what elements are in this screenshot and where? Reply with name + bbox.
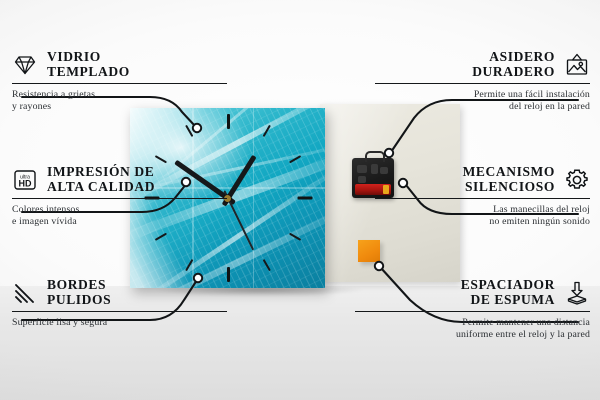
- feature-impresion-alta-calidad[interactable]: ultra HD IMPRESIÓN DEALTA CALIDAD Colore…: [12, 165, 227, 228]
- feature-subtitle: Permite mantener una distanciauniforme e…: [355, 317, 590, 340]
- feature-title: BORDESPULIDOS: [47, 278, 111, 307]
- feature-header: MECANISMOSILENCIOSO: [375, 165, 590, 194]
- svg-text:HD: HD: [19, 178, 32, 188]
- diamond-icon: [12, 52, 38, 78]
- down-arrow-on-pad-icon: [564, 280, 590, 306]
- clock-tick: [185, 259, 193, 271]
- feature-title: ESPACIADORDE ESPUMA: [461, 278, 555, 307]
- feature-title: MECANISMOSILENCIOSO: [463, 165, 555, 194]
- feature-divider: [12, 198, 227, 199]
- feature-subtitle: Colores intensose imagen vívida: [12, 204, 227, 227]
- feature-header: ESPACIADORDE ESPUMA: [355, 278, 590, 307]
- feature-divider: [12, 83, 227, 84]
- gear-icon: [564, 167, 590, 193]
- feature-title: VIDRIOTEMPLADO: [47, 50, 130, 79]
- feature-title: IMPRESIÓN DEALTA CALIDAD: [47, 165, 155, 194]
- feature-divider: [12, 311, 227, 312]
- ultra-hd-badge-icon: ultra HD: [12, 167, 38, 193]
- clock-tick: [262, 259, 270, 271]
- feature-asidero-duradero[interactable]: ASIDERODURADERO Permite una fácil instal…: [375, 50, 590, 113]
- feature-subtitle: Superficie lisa y segura: [12, 317, 227, 329]
- clock-tick: [262, 125, 270, 137]
- feature-mecanismo-silencioso[interactable]: MECANISMOSILENCIOSO Las manecillas del r…: [375, 165, 590, 228]
- feature-divider: [375, 83, 590, 84]
- infographic-canvas: VIDRIOTEMPLADO Resistencia a grietasy ra…: [0, 0, 600, 400]
- feature-subtitle: Resistencia a grietasy rayones: [12, 89, 227, 112]
- feature-divider: [355, 311, 590, 312]
- feature-header: VIDRIOTEMPLADO: [12, 50, 227, 79]
- feature-title: ASIDERODURADERO: [472, 50, 555, 79]
- clock-tick: [288, 155, 300, 163]
- foam-spacer: [358, 240, 380, 262]
- clock-tick: [154, 233, 166, 241]
- mechanism-detail: [357, 165, 367, 173]
- mechanism-detail: [358, 176, 366, 183]
- feature-header: ultra HD IMPRESIÓN DEALTA CALIDAD: [12, 165, 227, 194]
- feature-header: BORDESPULIDOS: [12, 278, 227, 307]
- clock-tick: [288, 233, 300, 241]
- clock-tick: [297, 197, 312, 200]
- feature-espaciador-de-espuma[interactable]: ESPACIADORDE ESPUMA Permite mantener una…: [355, 278, 590, 341]
- feature-subtitle: Permite una fácil instalacióndel reloj e…: [375, 89, 590, 112]
- clock-tick: [154, 155, 166, 163]
- picture-hanger-frame-icon: [564, 52, 590, 78]
- hanger-loop-icon: [365, 151, 385, 162]
- clock-tick: [227, 114, 230, 129]
- feature-vidrio-templado[interactable]: VIDRIOTEMPLADO Resistencia a grietasy ra…: [12, 50, 227, 113]
- clock-tick: [185, 125, 193, 137]
- polished-edge-lines-icon: [12, 280, 38, 306]
- feature-divider: [375, 198, 590, 199]
- feature-header: ASIDERODURADERO: [375, 50, 590, 79]
- feature-subtitle: Las manecillas del relojno emiten ningún…: [375, 204, 590, 227]
- feature-bordes-pulidos[interactable]: BORDESPULIDOS Superficie lisa y segura: [12, 278, 227, 329]
